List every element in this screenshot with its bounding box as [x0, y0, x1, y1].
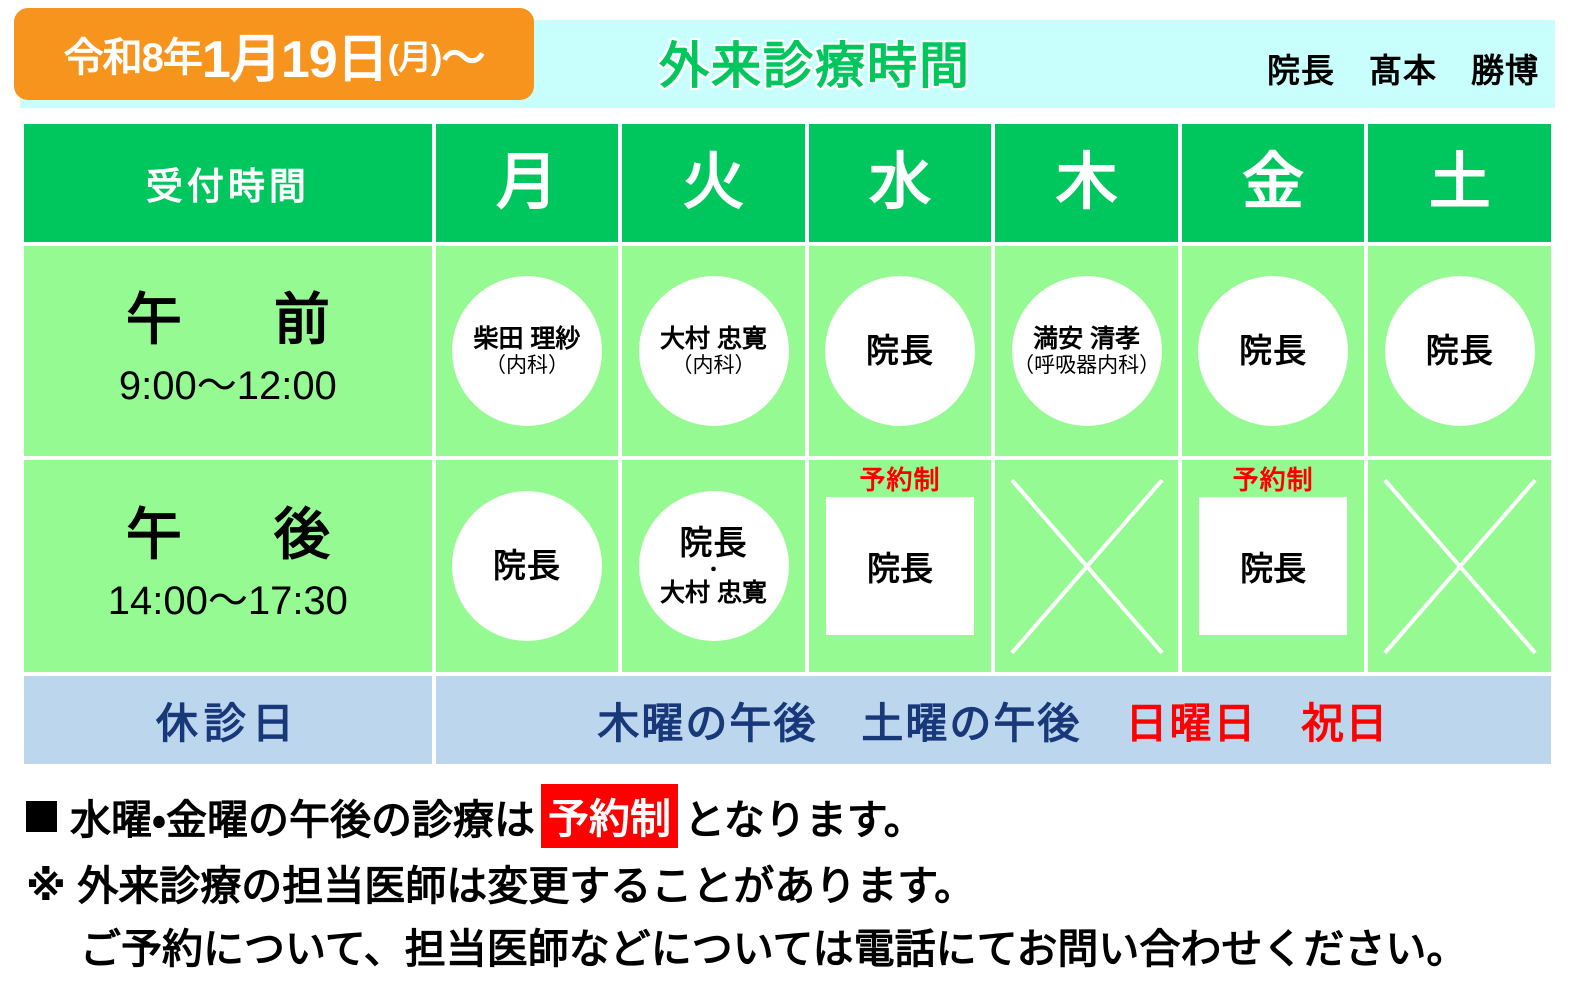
- date-month-day: 1月19日: [202, 17, 388, 92]
- note-reservation-highlight: 予約制: [541, 784, 678, 848]
- slot-friday-morning: 院長: [1182, 246, 1365, 456]
- doctor-bubble: 院長 ・ 大村 忠寛: [639, 491, 789, 641]
- header-cell-monday: 月: [436, 124, 619, 242]
- period-afternoon: 午 後 14:00〜17:30: [24, 506, 432, 627]
- table-row-morning: 午 前 9:00〜12:00 柴田 理紗 （内科） 大村 忠寛 （内科） 院長 …: [24, 246, 1551, 456]
- effective-date-badge: 令和8年 1月19日 (月) 〜: [14, 8, 534, 100]
- reservation-slot: 予約制 院長: [809, 460, 992, 672]
- page-title: 外来診療時間: [600, 26, 1030, 98]
- doctor-name: 院長: [1239, 333, 1307, 370]
- slot-tuesday-afternoon: 院長 ・ 大村 忠寛: [622, 460, 805, 672]
- period-morning-hours: 9:00〜12:00: [24, 353, 432, 411]
- period-afternoon-hours: 14:00〜17:30: [24, 568, 432, 626]
- day-label-friday: 金: [1182, 152, 1365, 214]
- doctor-name: 柴田 理紗: [473, 325, 580, 353]
- slot-monday-morning: 柴田 理紗 （内科）: [436, 246, 619, 456]
- doctor-department: （内科）: [672, 354, 756, 378]
- slot-wednesday-morning: 院長: [809, 246, 992, 456]
- doctor-name: 院長: [1426, 333, 1494, 370]
- note-doctor-change: ※ 外来診療の担当医師は変更することがあります。: [26, 850, 1556, 914]
- date-onwards-tilde: 〜: [441, 22, 484, 86]
- table-row-closed-days: 休診日 木曜の午後 土曜の午後 日曜日 祝日: [24, 676, 1551, 764]
- date-day-of-week: (月): [388, 30, 442, 79]
- slot-saturday-afternoon: [1368, 460, 1551, 672]
- doctor-bubble: 院長: [825, 276, 975, 426]
- header-cell-saturday: 土: [1368, 124, 1551, 242]
- day-label-wednesday: 水: [809, 152, 992, 214]
- filled-square-bullet-icon: [26, 801, 57, 832]
- slot-tuesday-morning: 大村 忠寛 （内科）: [622, 246, 805, 456]
- slot-saturday-morning: 院長: [1368, 246, 1551, 456]
- day-label-saturday: 土: [1368, 152, 1551, 214]
- doctor-box: 院長: [1199, 497, 1347, 635]
- header-cell-tuesday: 火: [622, 124, 805, 242]
- closed-x-icon: [995, 460, 1178, 672]
- reservation-slot: 予約制 院長: [1182, 460, 1365, 672]
- doctor-bubble: 院長: [452, 491, 602, 641]
- doctor-bubble: 柴田 理紗 （内科）: [452, 276, 602, 426]
- period-morning-name: 午 前: [24, 291, 432, 350]
- date-era: 令和8年: [64, 25, 202, 83]
- note-phone-inquiry: ご予約について、担当医師などについては電話にてお問い合わせください。: [26, 914, 1556, 976]
- doctor-bubble: 院長: [1198, 276, 1348, 426]
- table-row-afternoon: 午 後 14:00〜17:30 院長 院長 ・ 大村 忠寛 予約制 院長: [24, 460, 1551, 672]
- slot-friday-afternoon: 予約制 院長: [1182, 460, 1365, 672]
- doctor-name: 満安 清孝: [1033, 325, 1140, 353]
- closed-days-holiday-items: 日曜日 祝日: [1125, 700, 1389, 747]
- name-separator-dot: ・: [705, 562, 723, 578]
- period-cell-afternoon: 午 後 14:00〜17:30: [24, 460, 432, 672]
- doctor-name: 院長: [493, 548, 561, 585]
- reservation-required-tag: 予約制: [1233, 466, 1314, 495]
- closed-days-label-cell: 休診日: [24, 676, 432, 764]
- slot-monday-afternoon: 院長: [436, 460, 619, 672]
- slot-wednesday-afternoon: 予約制 院長: [809, 460, 992, 672]
- reservation-required-tag: 予約制: [860, 466, 941, 495]
- doctor-bubble: 大村 忠寛 （内科）: [639, 276, 789, 426]
- notes-section: 水曜・金曜の午後の診療は予約制となります。 ※ 外来診療の担当医師は変更すること…: [26, 782, 1556, 976]
- director-name: 院長 髙本 勝博: [1267, 44, 1539, 92]
- slot-thursday-afternoon: [995, 460, 1178, 672]
- closed-days-weekday-items: 木曜の午後 土曜の午後: [597, 700, 1125, 747]
- period-morning: 午 前 9:00〜12:00: [24, 291, 432, 412]
- reception-time-label: 受付時間: [24, 156, 432, 210]
- period-afternoon-name: 午 後: [24, 506, 432, 565]
- header-cell-friday: 金: [1182, 124, 1365, 242]
- doctor-bubble: 満安 清孝 （呼吸器内科）: [1012, 276, 1162, 426]
- doctor-name: 院長: [680, 525, 748, 562]
- table-header-row: 受付時間 月 火 水 木 金 土: [24, 124, 1551, 242]
- slot-thursday-morning: 満安 清孝 （呼吸器内科）: [995, 246, 1178, 456]
- closed-days-list: 木曜の午後 土曜の午後 日曜日 祝日: [436, 690, 1551, 751]
- doctor-name: 院長: [866, 333, 934, 370]
- doctor-name: 大村 忠寛: [660, 325, 767, 353]
- doctor-department: （呼吸器内科）: [1013, 354, 1160, 378]
- day-label-monday: 月: [436, 152, 619, 214]
- doctor-department: （内科）: [485, 354, 569, 378]
- header-cell-thursday: 木: [995, 124, 1178, 242]
- period-cell-morning: 午 前 9:00〜12:00: [24, 246, 432, 456]
- header-cell-wednesday: 水: [809, 124, 992, 242]
- note-reservation: 水曜・金曜の午後の診療は予約制となります。: [26, 782, 1556, 850]
- closed-days-label: 休診日: [24, 690, 432, 751]
- closed-x-icon: [1368, 460, 1551, 672]
- header-cell-reception-time: 受付時間: [24, 124, 432, 242]
- day-label-tuesday: 火: [622, 152, 805, 214]
- page-header: 令和8年 1月19日 (月) 〜 外来診療時間 院長 髙本 勝博: [0, 0, 1575, 118]
- day-label-thursday: 木: [995, 152, 1178, 214]
- schedule-table: 受付時間 月 火 水 木 金 土 午 前 9:00〜12:00: [20, 120, 1555, 768]
- closed-days-values-cell: 木曜の午後 土曜の午後 日曜日 祝日: [436, 676, 1551, 764]
- note-reservation-post: となります。: [684, 786, 925, 846]
- note-reservation-pre: 水曜・金曜の午後の診療は: [70, 786, 535, 846]
- doctor-name-secondary: 大村 忠寛: [660, 579, 767, 607]
- doctor-bubble: 院長: [1385, 276, 1535, 426]
- doctor-box: 院長: [826, 497, 974, 635]
